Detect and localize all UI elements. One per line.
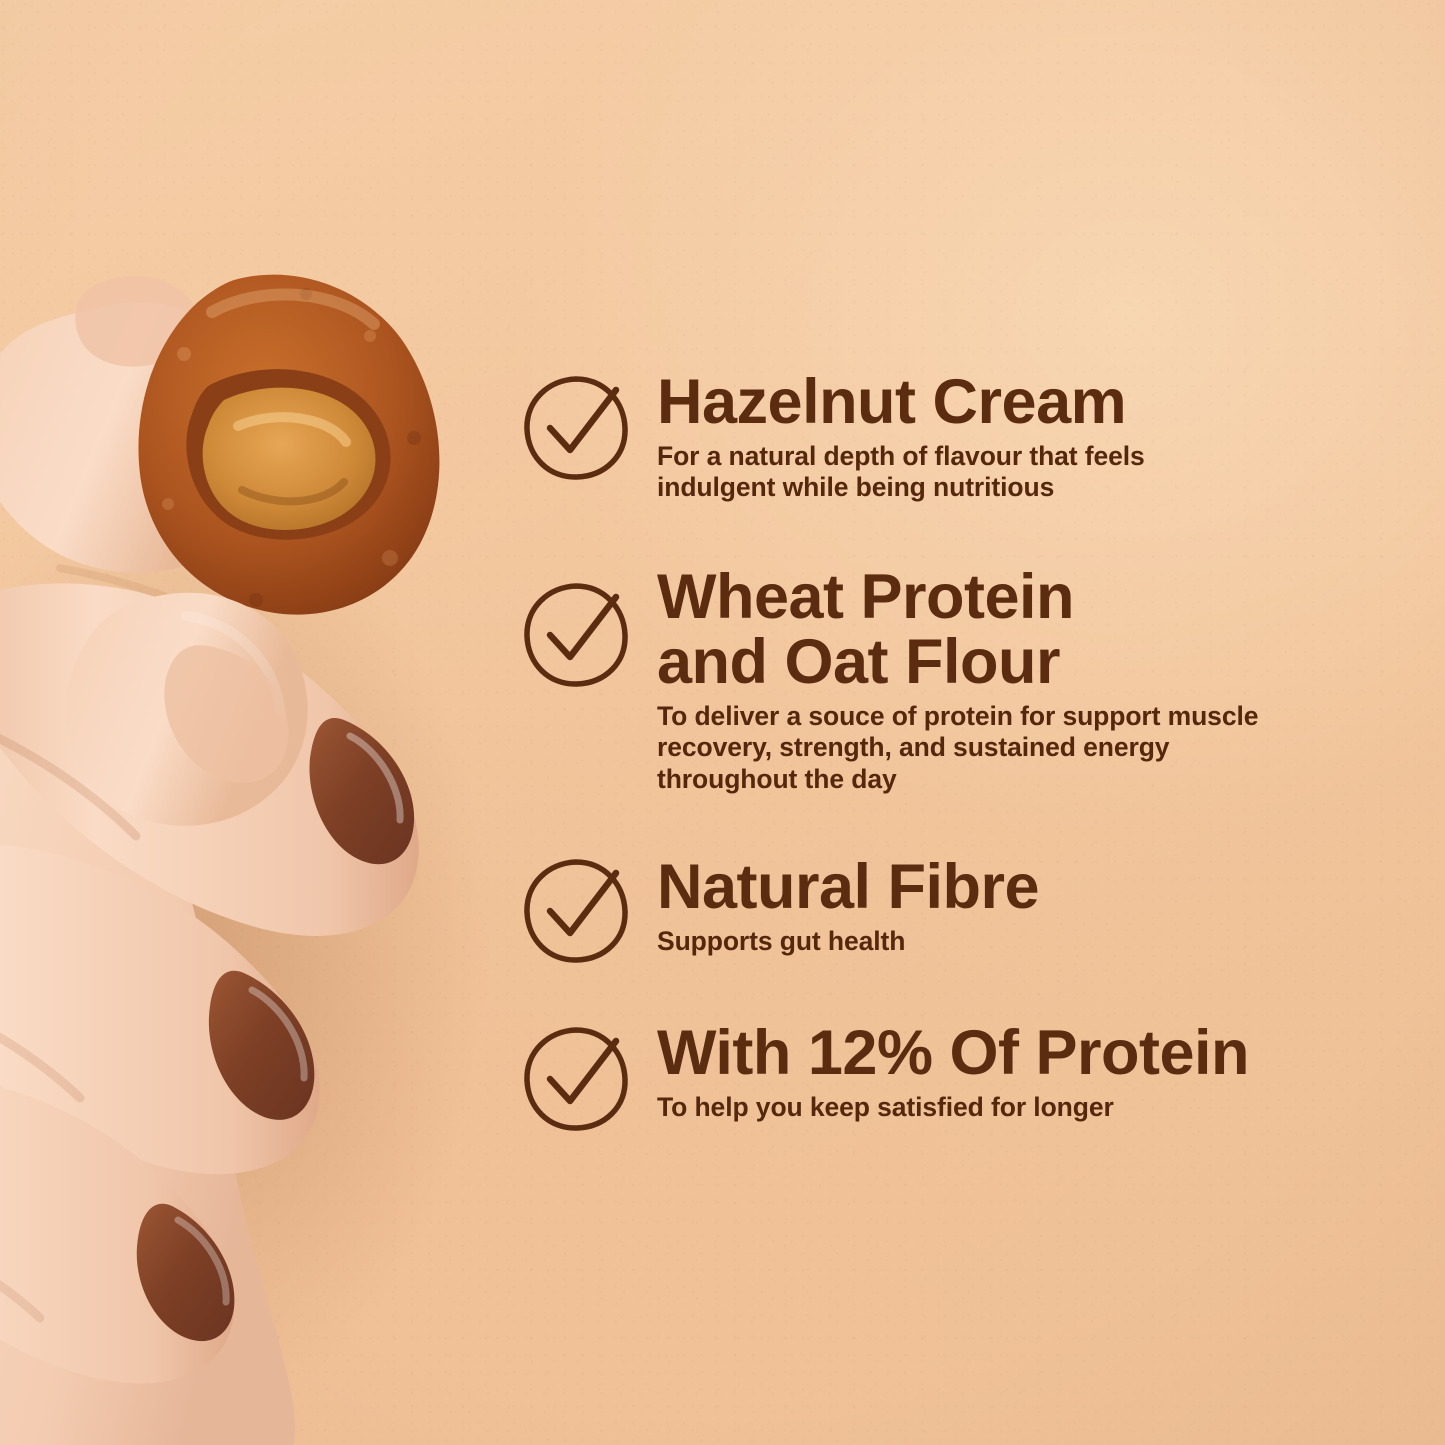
image-canvas: Hazelnut Cream For a natural depth of fl… bbox=[0, 0, 1445, 1445]
benefit-headline: Natural Fibre bbox=[657, 855, 1400, 920]
benefit-subtext: To help you keep satisfied for longer bbox=[657, 1092, 1400, 1123]
hand-holding-protein-ball bbox=[0, 250, 560, 1445]
benefit-headline: With 12% Of Protein bbox=[657, 1021, 1400, 1086]
benefit-headline: Wheat Protein and Oat Flour bbox=[657, 565, 1400, 695]
check-circle-icon bbox=[520, 855, 632, 967]
benefit-subtext: For a natural depth of flavour that feel… bbox=[657, 441, 1400, 504]
benefit-subtext: To deliver a souce of protein for suppor… bbox=[657, 701, 1400, 795]
benefits-checklist: Hazelnut Cream For a natural depth of fl… bbox=[520, 370, 1400, 1123]
list-item: With 12% Of Protein To help you keep sat… bbox=[520, 1021, 1400, 1123]
benefit-subtext: Supports gut health bbox=[657, 926, 1400, 957]
list-item: Hazelnut Cream For a natural depth of fl… bbox=[520, 370, 1400, 503]
list-item: Natural Fibre Supports gut health bbox=[520, 855, 1400, 957]
check-circle-icon bbox=[520, 579, 632, 691]
check-circle-icon bbox=[520, 1023, 632, 1135]
check-circle-icon bbox=[520, 372, 632, 484]
list-item: Wheat Protein and Oat Flour To deliver a… bbox=[520, 565, 1400, 795]
benefit-headline: Hazelnut Cream bbox=[657, 370, 1400, 435]
